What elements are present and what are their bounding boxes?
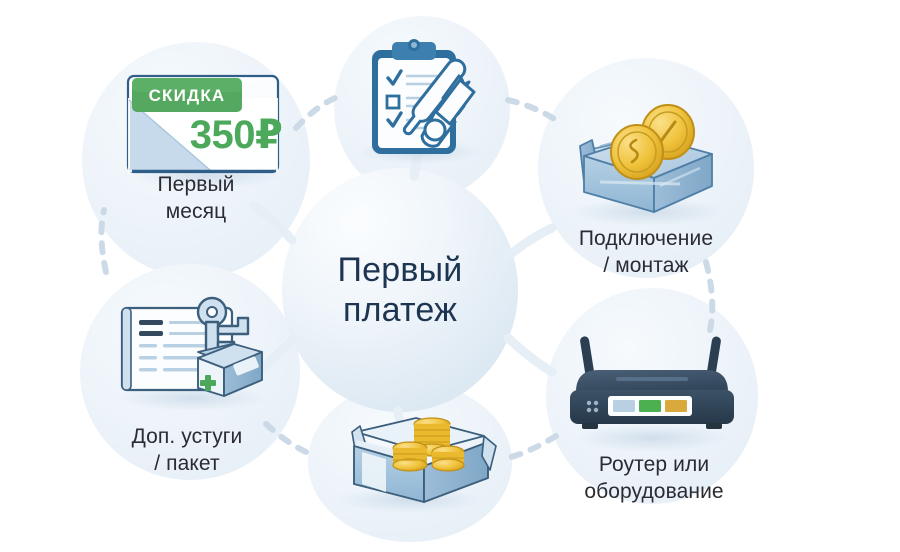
center-node: Первый платеж (285, 195, 515, 385)
center-title: Первый платеж (338, 250, 463, 330)
discount-badge-label: СКИДКА (149, 86, 226, 105)
connector-checklist-connection (508, 100, 556, 120)
connector-first-month-checklist (296, 96, 340, 128)
coin-stack-right (432, 446, 464, 471)
node-connection[interactable]: Подключение / монтаж (546, 226, 746, 280)
node-extra-services[interactable]: Доп. устуги / пакет (96, 424, 278, 478)
node-router-label: Роутер или оборудование (546, 452, 762, 506)
discount-amount-label: 350₽ (190, 113, 283, 157)
node-first-month[interactable]: Первый месяц (116, 172, 276, 226)
node-extra-services-label: Доп. устуги / пакет (96, 424, 278, 478)
node-first-month-label: Первый месяц (116, 172, 276, 226)
node-connection-label: Подключение / монтаж (546, 226, 746, 280)
open-box-coins-icon (338, 418, 496, 513)
coin-stack-left (393, 442, 427, 471)
node-router[interactable]: Роутер или оборудование (546, 452, 762, 506)
infographic-canvas: СКИДКА 350₽ (0, 0, 900, 552)
